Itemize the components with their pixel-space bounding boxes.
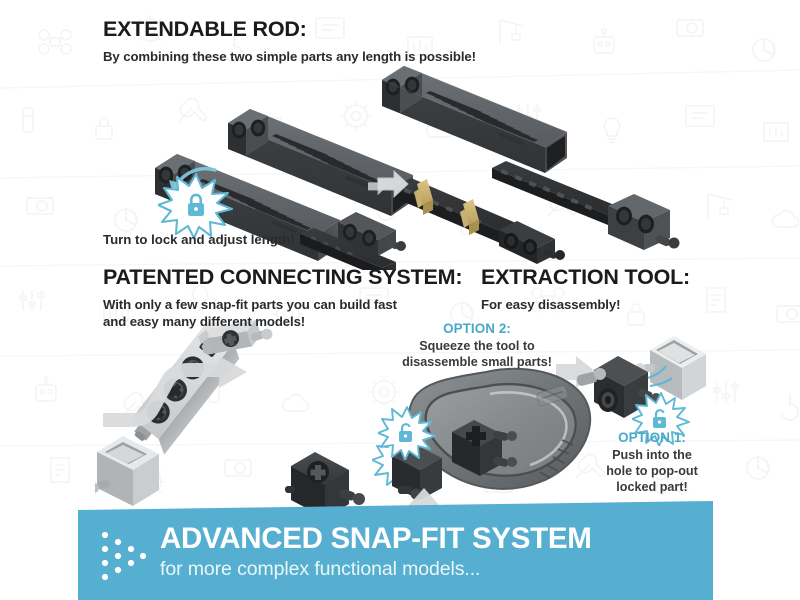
- banner-tagline: for more complex functional models...: [160, 560, 592, 580]
- option1-line2: hole to pop-out: [582, 463, 722, 479]
- connecting-system-illustration: [95, 310, 405, 520]
- option1-callout: OPTION 1: Push into the hole to pop-out …: [582, 430, 722, 495]
- dot-triangle-logo: [98, 528, 148, 589]
- extendable-rod-heading-group: EXTENDABLE ROD: By combining these two s…: [103, 18, 476, 65]
- lock-closed-badge-rod: [158, 172, 234, 238]
- option2-line1: Squeeze the tool to: [384, 338, 570, 354]
- lock-open-badge-tool: [378, 406, 436, 460]
- option2-label: OPTION 2:: [384, 321, 570, 336]
- extendable-rod-title: EXTENDABLE ROD:: [103, 18, 476, 41]
- connecting-system-subtitle-line1: With only a few snap-fit parts you can b…: [103, 296, 462, 314]
- connecting-system-title: PATENTED CONNECTING SYSTEM:: [103, 266, 462, 289]
- banner-headline: ADVANCED SNAP-FIT SYSTEM: [160, 524, 592, 554]
- extendable-rod-subtitle: By combining these two simple parts any …: [103, 48, 476, 66]
- extraction-tool-title: EXTRACTION TOOL:: [481, 266, 690, 289]
- option2-line2: disassemble small parts!: [384, 354, 570, 370]
- option1-label: OPTION 1:: [582, 430, 722, 445]
- option2-callout: OPTION 2: Squeeze the tool to disassembl…: [384, 321, 570, 370]
- option1-line3: locked part!: [582, 479, 722, 495]
- extraction-tool-subtitle: For easy disassembly!: [481, 296, 690, 314]
- bottom-banner: ADVANCED SNAP-FIT SYSTEM for more comple…: [0, 496, 800, 600]
- extendable-rod-caption: Turn to lock and adjust length!: [103, 231, 295, 248]
- option1-line1: Push into the: [582, 447, 722, 463]
- extraction-tool-heading-group: EXTRACTION TOOL: For easy disassembly!: [481, 266, 690, 313]
